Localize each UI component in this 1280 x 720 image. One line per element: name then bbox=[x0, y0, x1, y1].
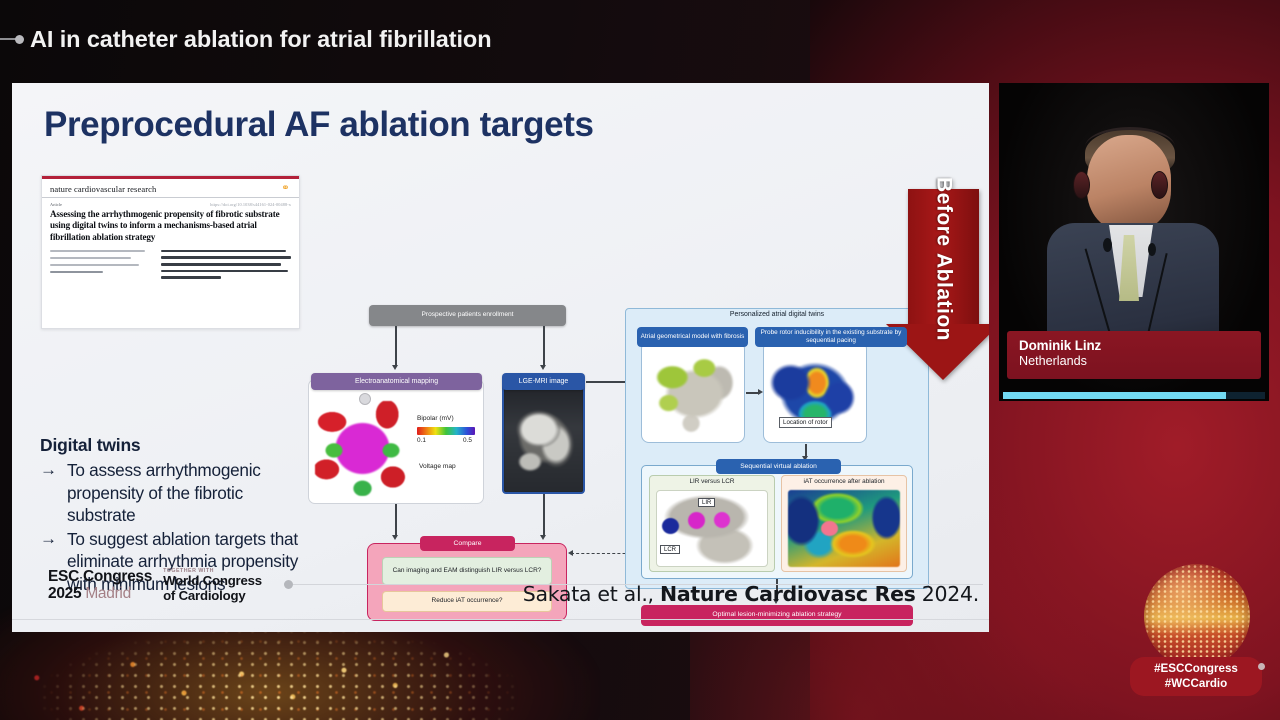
microphone-head-right-icon bbox=[1148, 243, 1156, 256]
esc-logo-city: Madrid bbox=[85, 585, 131, 602]
connector-arrowhead bbox=[392, 365, 398, 370]
header-bar: AI in catheter ablation for atrial fibri… bbox=[0, 0, 1280, 78]
paper-doi: https://doi.org/10.1038/s44161-024-00488… bbox=[210, 202, 291, 207]
session-title: AI in catheter ablation for atrial fibri… bbox=[30, 26, 491, 53]
esc-logo-line2: 2025 Madrid bbox=[48, 585, 152, 602]
esc-logo-year: 2025 bbox=[48, 585, 81, 602]
paper-authors-placeholder bbox=[161, 250, 291, 283]
esc-logo-left: ESC Congress 2025 Madrid bbox=[48, 568, 152, 603]
connector-arrowhead bbox=[392, 535, 398, 540]
lir-marker-1 bbox=[688, 512, 705, 529]
headset-band-icon bbox=[1085, 127, 1175, 167]
hashtag-pill: #ESCCongress #WCCardio bbox=[1130, 657, 1262, 696]
footer-rail-dot-icon bbox=[284, 580, 293, 589]
digital-twins-item: → To assess arrhythmogenic propensity of… bbox=[40, 459, 302, 527]
connector-enroll-to-eam bbox=[395, 326, 397, 366]
lge-mri-image bbox=[502, 382, 585, 494]
open-access-icon: ⚭ bbox=[280, 183, 291, 194]
probe-rotor-header: Probe rotor inducibility in the existing… bbox=[755, 327, 907, 347]
iat-lesion-marker bbox=[821, 521, 838, 536]
flow-node-enrollment: Prospective patients enrollment bbox=[369, 305, 566, 326]
before-ablation-line2: Ablation bbox=[932, 253, 956, 341]
wcc-logo-right: TOGETHER WITH World Congress of Cardiolo… bbox=[163, 568, 262, 604]
eam-catheter-node-icon bbox=[359, 393, 371, 405]
wcc-line2: of Cardiology bbox=[163, 589, 262, 604]
digital-twins-item-text: To assess arrhythmogenic propensity of t… bbox=[67, 459, 302, 527]
congress-hashtag-badge: #ESCCongress #WCCardio bbox=[1130, 560, 1266, 712]
connector-eam-to-compare bbox=[395, 504, 397, 536]
connector-arrowhead bbox=[540, 365, 546, 370]
headset-earcup-right-icon bbox=[1151, 171, 1168, 199]
bipolar-scale-max: 0.5 bbox=[463, 437, 472, 444]
voltage-map-mesh-image bbox=[315, 401, 410, 496]
hashtag-wccardio: #WCCardio bbox=[1136, 677, 1256, 691]
before-ablation-line1: Before bbox=[932, 177, 956, 247]
journal-article-thumbnail: nature cardiovascular research ⚭ Article… bbox=[41, 175, 300, 329]
wcc-line1: World Congress bbox=[163, 574, 262, 589]
presentation-viewer: AI in catheter ablation for atrial fibri… bbox=[0, 0, 1280, 720]
bipolar-scale-title: Bipolar (mV) bbox=[417, 415, 454, 422]
citation-year: 2024. bbox=[916, 582, 979, 606]
personalized-twins-title: Personalized atrial digital twins bbox=[625, 311, 929, 318]
globe-icon bbox=[1144, 564, 1250, 668]
bipolar-scale-min: 0.1 bbox=[417, 437, 426, 444]
esc-logo-line1: ESC Congress bbox=[48, 568, 152, 585]
iat-title: iAT occurrence after ablation bbox=[781, 478, 907, 485]
lir-label: LIR bbox=[698, 498, 715, 507]
paper-dates-placeholder bbox=[50, 250, 151, 283]
compare-header: Compare bbox=[420, 536, 515, 551]
speaker-name-plate: Dominik Linz Netherlands bbox=[1007, 331, 1261, 379]
rotor-location-label: Location of rotor bbox=[779, 417, 832, 428]
hashtag-esccongress: #ESCCongress bbox=[1136, 662, 1256, 676]
connector-mri-to-compare bbox=[543, 494, 545, 536]
mri-panel-header: LGE-MRI image bbox=[502, 373, 585, 390]
paper-meta-row: Article https://doi.org/10.1038/s44161-0… bbox=[42, 198, 299, 207]
badge-side-dot-icon bbox=[1258, 663, 1265, 670]
speaker-video-panel[interactable]: Dominik Linz Netherlands bbox=[999, 83, 1269, 401]
article-type-label: Article bbox=[50, 202, 62, 207]
connector-arrowhead bbox=[568, 550, 573, 556]
microphone-head-left-icon bbox=[1103, 238, 1112, 252]
lcr-label: LCR bbox=[660, 545, 680, 554]
atrial-geometry-header: Atrial geometrical model with fibrosis bbox=[637, 327, 748, 347]
before-ablation-arrow: Before Ablation bbox=[886, 189, 989, 380]
connector-arrowhead bbox=[540, 535, 546, 540]
slide-canvas[interactable]: Preprocedural AF ablation targets nature… bbox=[12, 83, 989, 632]
citation-authors: Sakata et al., bbox=[523, 582, 660, 606]
slide-title: Preprocedural AF ablation targets bbox=[44, 105, 594, 145]
citation-text: Sakata et al., Nature Cardiovasc Res 202… bbox=[523, 582, 979, 606]
arrow-right-icon: → bbox=[40, 459, 57, 527]
before-ablation-label: Before Ablation bbox=[908, 189, 979, 329]
lcr-marker bbox=[662, 518, 679, 534]
paper-brand-row: nature cardiovascular research ⚭ bbox=[42, 179, 299, 198]
headset-earcup-left-icon bbox=[1073, 171, 1090, 199]
speaker-country: Netherlands bbox=[1019, 354, 1249, 368]
flow-node-optimal-strategy: Optimal lesion-minimizing ablation strat… bbox=[641, 605, 913, 626]
connector-arrowhead bbox=[758, 389, 763, 395]
lir-marker-2 bbox=[714, 512, 730, 528]
eam-panel-header: Electroanatomical mapping bbox=[311, 373, 482, 390]
paper-headline: Assessing the arrhythmogenic propensity … bbox=[42, 207, 299, 243]
bipolar-color-scale bbox=[417, 427, 475, 435]
paper-footer-block bbox=[42, 243, 299, 283]
connector-enroll-to-mri bbox=[543, 326, 545, 366]
atrial-geometry-image bbox=[641, 341, 745, 443]
playback-progress-fill bbox=[1003, 392, 1226, 399]
slide-bottom-rule bbox=[12, 619, 989, 620]
iat-occurrence-image bbox=[788, 490, 900, 567]
playback-progress-bar[interactable] bbox=[1003, 392, 1265, 399]
citation-journal: Nature Cardiovasc Res bbox=[660, 582, 916, 606]
digital-twins-heading: Digital twins bbox=[40, 435, 302, 456]
compare-question-1: Can imaging and EAM distinguish LIR vers… bbox=[382, 557, 552, 585]
journal-name: nature cardiovascular research bbox=[50, 184, 156, 194]
sequential-ablation-header: Sequential virtual ablation bbox=[716, 459, 841, 474]
lir-lcr-title: LIR versus LCR bbox=[649, 478, 775, 485]
header-bullet-icon bbox=[0, 35, 30, 44]
voltage-map-caption: Voltage map bbox=[419, 463, 456, 470]
esc-congress-logo: ESC Congress 2025 Madrid TOGETHER WITH W… bbox=[48, 568, 262, 604]
speaker-name: Dominik Linz bbox=[1019, 338, 1249, 353]
